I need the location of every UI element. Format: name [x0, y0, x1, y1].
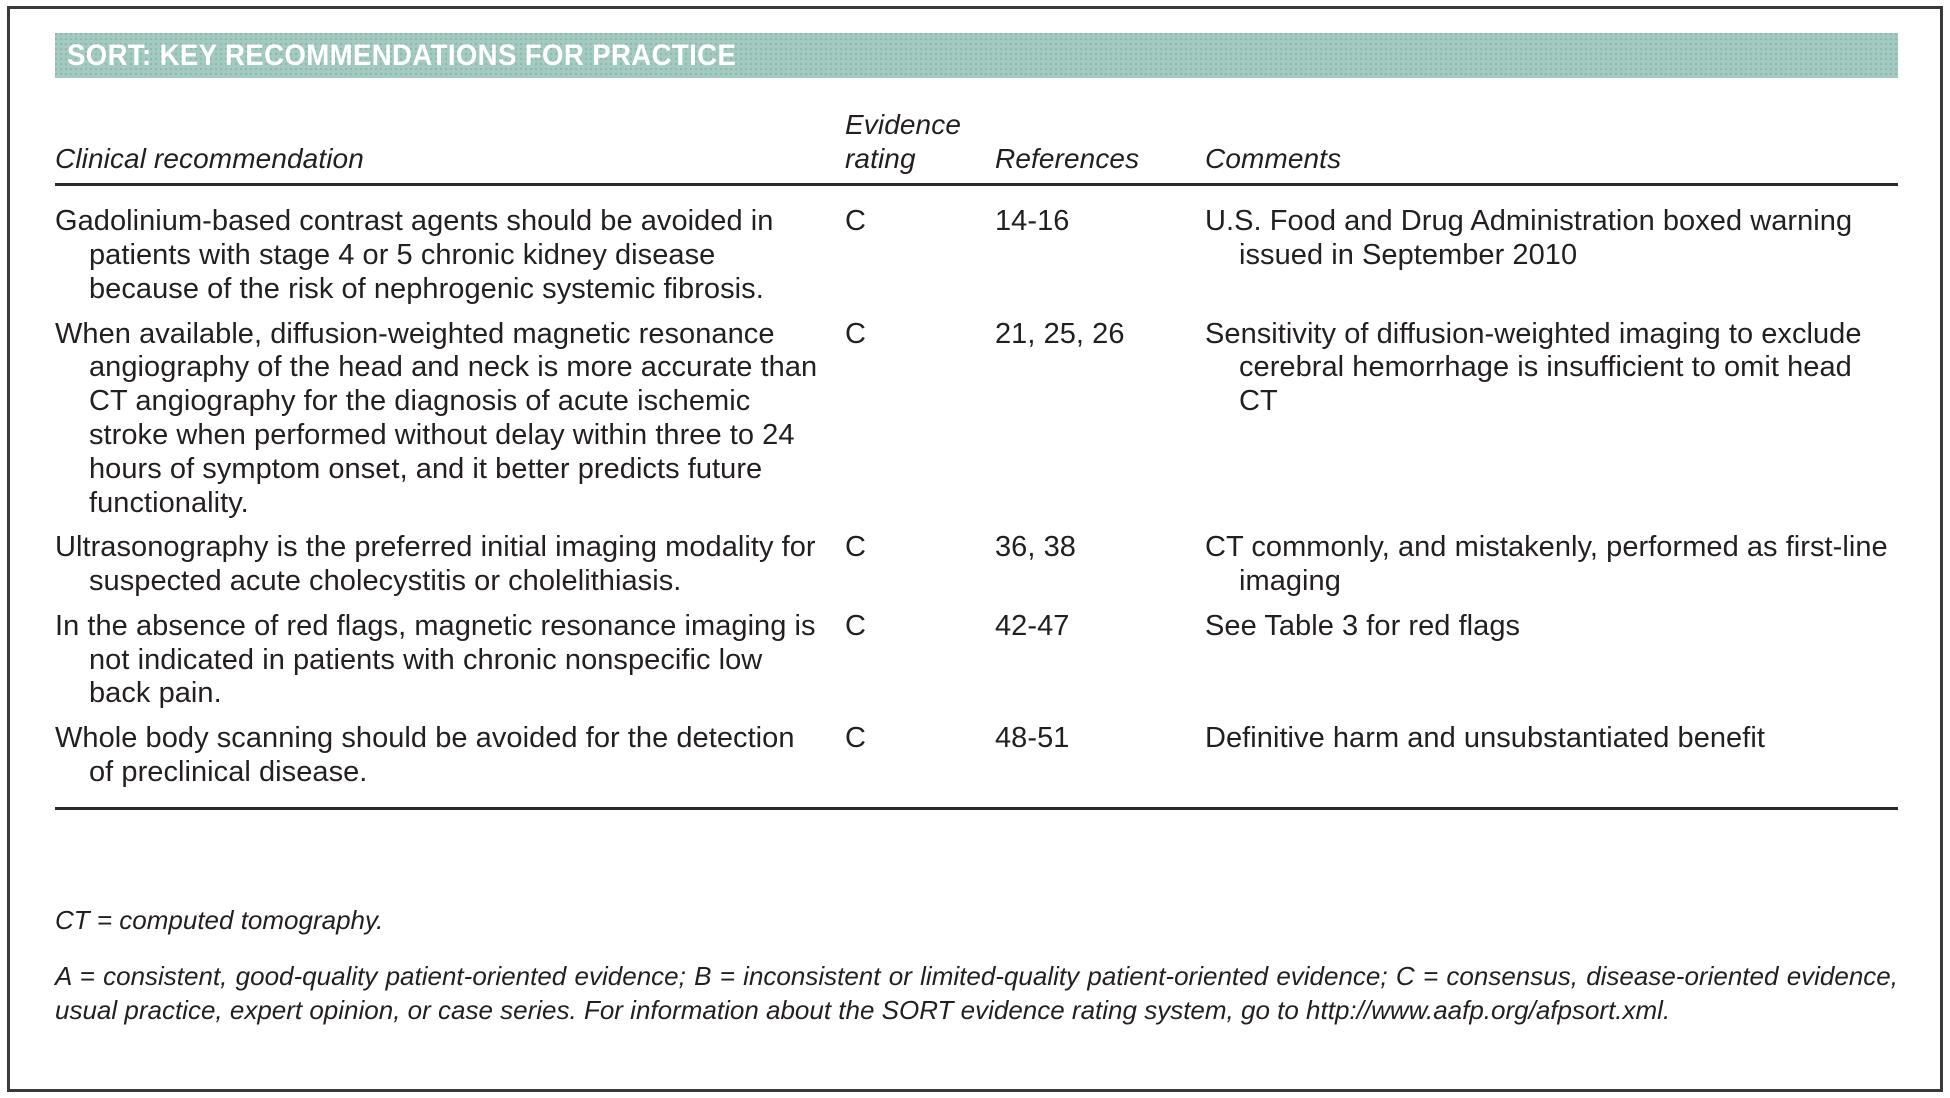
cell-recommendation: In the absence of red flags, magnetic re… [55, 610, 845, 722]
column-header-rating: Evidence rating [845, 108, 995, 185]
sort-table: Clinical recommendation Evidence rating … [55, 108, 1898, 810]
cell-comments: U.S. Food and Drug Administration boxed … [1205, 185, 1898, 318]
cell-rating: C [845, 318, 995, 532]
column-header-comments-label: Comments [1205, 142, 1898, 176]
cell-recommendation: Ultrasonography is the preferred initial… [55, 531, 845, 610]
cell-comments: Definitive harm and unsubstantiated bene… [1205, 722, 1898, 808]
table-row: Gadolinium-based contrast agents should … [55, 185, 1898, 318]
table-body: Gadolinium-based contrast agents should … [55, 185, 1898, 809]
cell-comments: Sensitivity of diffusion-weighted imagin… [1205, 318, 1898, 532]
cell-references: 36, 38 [995, 531, 1205, 610]
cell-recommendation: Whole body scanning should be avoided fo… [55, 722, 845, 808]
cell-comments: CT commonly, and mistakenly, performed a… [1205, 531, 1898, 610]
column-header-references-label: References [995, 142, 1205, 176]
column-header-rating-line1: Evidence [845, 108, 995, 142]
table-row: When available, diffusion-weighted magne… [55, 318, 1898, 532]
cell-references: 48-51 [995, 722, 1205, 808]
table-title: SORT: KEY RECOMMENDATIONS FOR PRACTICE [55, 39, 736, 73]
sort-table-wrap: Clinical recommendation Evidence rating … [55, 108, 1898, 810]
table-row: Whole body scanning should be avoided fo… [55, 722, 1898, 808]
table-row: Ultrasonography is the preferred initial… [55, 531, 1898, 610]
column-header-rating-line2: rating [845, 142, 995, 176]
column-header-recommendation-label: Clinical recommendation [55, 142, 845, 176]
cell-comments: See Table 3 for red flags [1205, 610, 1898, 722]
column-header-recommendation: Clinical recommendation [55, 108, 845, 185]
footnote-sort-definition: A = consistent, good-quality patient-ori… [55, 960, 1898, 1028]
table-header: Clinical recommendation Evidence rating … [55, 108, 1898, 185]
table-footnotes: CT = computed tomography. A = consistent… [55, 904, 1898, 1027]
cell-references: 42-47 [995, 610, 1205, 722]
cell-references: 14-16 [995, 185, 1205, 318]
cell-recommendation: Gadolinium-based contrast agents should … [55, 185, 845, 318]
cell-rating: C [845, 722, 995, 808]
column-header-references: References [995, 108, 1205, 185]
column-header-comments: Comments [1205, 108, 1898, 185]
cell-rating: C [845, 185, 995, 318]
table-title-bar: SORT: KEY RECOMMENDATIONS FOR PRACTICE [55, 33, 1898, 78]
sort-table-page: SORT: KEY RECOMMENDATIONS FOR PRACTICE C… [0, 0, 1950, 1098]
cell-references: 21, 25, 26 [995, 318, 1205, 532]
table-row: In the absence of red flags, magnetic re… [55, 610, 1898, 722]
cell-rating: C [845, 610, 995, 722]
cell-recommendation: When available, diffusion-weighted magne… [55, 318, 845, 532]
cell-rating: C [845, 531, 995, 610]
footnote-abbreviations: CT = computed tomography. [55, 904, 1898, 938]
